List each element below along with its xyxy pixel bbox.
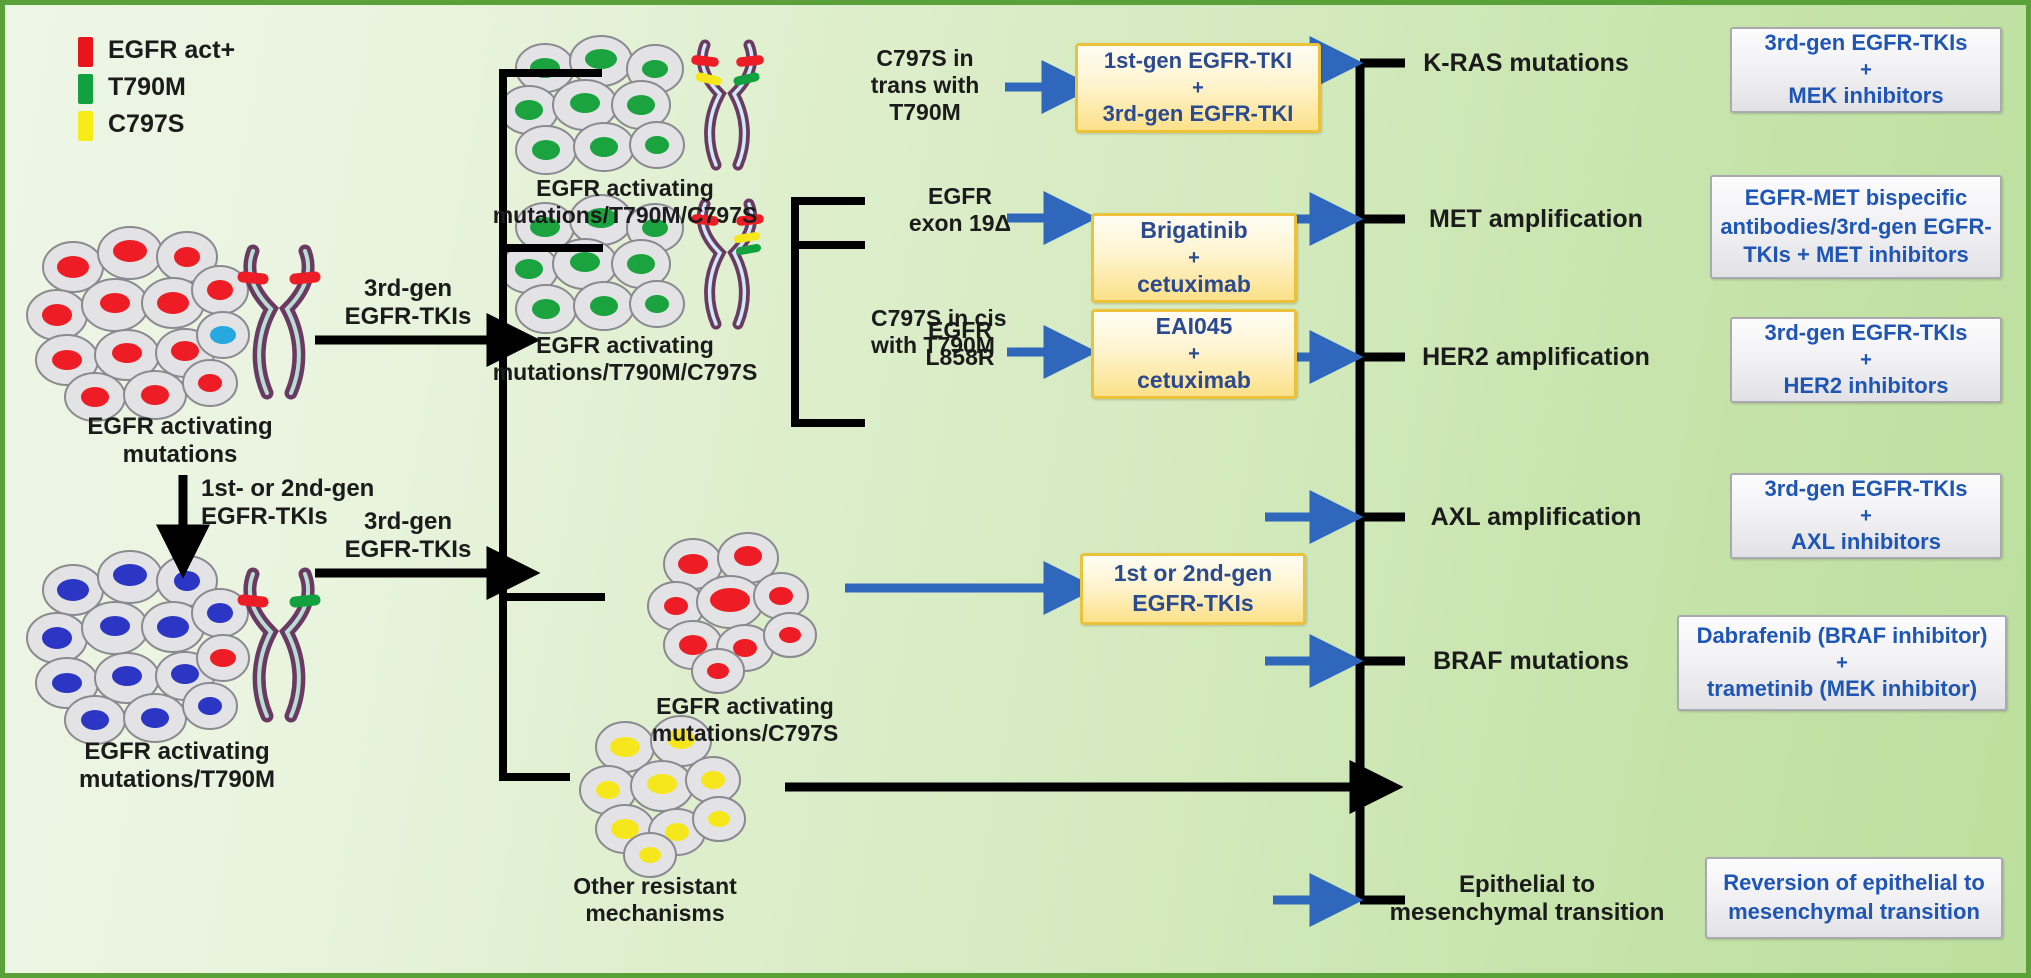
treatment-box-brigatinib[interactable]: Brigatinib + cetuximab (1091, 213, 1297, 303)
treatment-box-brigatinib-plus: + (1188, 248, 1200, 268)
label-cis-line2: mutations/T790M/C797S (460, 359, 790, 386)
mechanism-label-emt: Epithelial to mesenchymal transition (1387, 871, 1667, 928)
mechanism-label-met-line1: MET amplification (1411, 205, 1661, 235)
treatment-box-k-ras-line3: MEK inhibitors (1788, 82, 1943, 111)
label-egfr-t790m: EGFR activating mutations/T790M (27, 738, 327, 795)
treatment-box-her2-line1: 3rd-gen EGFR-TKIs (1765, 319, 1968, 348)
treatment-box-her2[interactable]: 3rd-gen EGFR-TKIs + HER2 inhibitors (1730, 317, 2002, 403)
branch-label-l858r: EGFR L858R (885, 317, 1035, 371)
cell-cluster-egfr-activating (27, 227, 249, 421)
treatment-box-her2-line3: HER2 inhibitors (1783, 372, 1948, 401)
label-trans-line1: EGFR activating (460, 175, 790, 202)
legend-swatch-egfr-act (78, 37, 93, 67)
treatment-box-her2-plus: + (1860, 350, 1872, 370)
branch-label-exon19-line1: EGFR (885, 183, 1035, 210)
treatment-box-1st-2nd-gen-line2: EGFR-TKIs (1132, 589, 1253, 619)
treatment-box-met-line3: TKIs + MET inhibitors (1743, 241, 1969, 270)
cell-cluster-t790m-c797s-trans (500, 36, 684, 174)
label-egfr-activating: EGFR activating mutations (45, 413, 315, 470)
treatment-box-k-ras-plus: + (1860, 60, 1872, 80)
chromosome-egfr-activating (243, 251, 315, 393)
legend-swatch-t790m (78, 74, 93, 104)
branch-label-trans-line2: trans with (845, 72, 1005, 99)
arrow-label-third-gen-top-line2: EGFR-TKIs (313, 303, 503, 331)
treatment-box-k-ras[interactable]: 3rd-gen EGFR-TKIs + MEK inhibitors (1730, 27, 2002, 113)
label-c797s-only-line2: mutations/C797S (605, 720, 885, 747)
branch-label-l858r-line1: EGFR (885, 317, 1035, 344)
treatment-box-eai045[interactable]: EAI045 + cetuximab (1091, 309, 1297, 399)
mechanism-label-axl: AXL amplification (1411, 503, 1661, 533)
treatment-box-axl-plus: + (1860, 506, 1872, 526)
branch-label-trans: C797S in trans with T790M (845, 45, 1005, 126)
label-other-resistant-line2: mechanisms (535, 900, 775, 927)
treatment-box-eai045-line3: cetuximab (1137, 366, 1251, 396)
branch-label-exon19-line2: exon 19Δ (885, 210, 1035, 237)
chromosome-egfr-t790m (243, 574, 315, 716)
branch-label-trans-line1: C797S in (845, 45, 1005, 72)
branch-label-l858r-line2: L858R (885, 344, 1035, 371)
treatment-box-met-line1: EGFR-MET bispecific (1745, 184, 1967, 213)
chromosome-trans (696, 45, 759, 165)
mechanism-label-braf-line1: BRAF mutations (1411, 647, 1651, 677)
treatment-box-brigatinib-line3: cetuximab (1137, 270, 1251, 300)
arrow-label-first-second-gen-line1: 1st- or 2nd-gen (201, 475, 431, 503)
treatment-box-brigatinib-line1: Brigatinib (1140, 216, 1247, 246)
arrow-label-third-gen-bottom: 3rd-gen EGFR-TKIs (313, 508, 503, 565)
treatment-box-axl[interactable]: 3rd-gen EGFR-TKIs + AXL inhibitors (1730, 473, 2002, 559)
treatment-box-axl-line1: 3rd-gen EGFR-TKIs (1765, 475, 1968, 504)
arrow-label-third-gen-top: 3rd-gen EGFR-TKIs (313, 275, 503, 332)
mechanism-label-emt-line2: mesenchymal transition (1387, 899, 1667, 927)
legend-label-egfr-act: EGFR act+ (108, 36, 235, 65)
treatment-box-1st-3rd-gen-plus: + (1192, 78, 1204, 98)
cell-cluster-c797s-only (648, 533, 816, 693)
mechanism-label-braf: BRAF mutations (1411, 647, 1651, 677)
treatment-box-1st-3rd-gen-line3: 3rd-gen EGFR-TKI (1103, 100, 1294, 129)
branch-label-trans-line3: T790M (845, 99, 1005, 126)
mechanism-label-axl-line1: AXL amplification (1411, 503, 1661, 533)
mechanism-label-k-ras-line1: K-RAS mutations (1411, 49, 1641, 79)
legend-swatch-c797s (78, 111, 93, 141)
label-t790m-c797s-cis: EGFR activating mutations/T790M/C797S (460, 332, 790, 386)
treatment-box-emt-line2: mesenchymal transition (1728, 898, 1980, 927)
label-other-resistant-line1: Other resistant (535, 873, 775, 900)
treatment-box-met[interactable]: EGFR-MET bispecific antibodies/3rd-gen E… (1710, 175, 2002, 279)
mechanism-label-her2-line1: HER2 amplification (1411, 343, 1661, 373)
branch-label-exon19: EGFR exon 19Δ (885, 183, 1035, 237)
treatment-box-k-ras-line1: 3rd-gen EGFR-TKIs (1765, 29, 1968, 58)
treatment-box-axl-line3: AXL inhibitors (1791, 528, 1941, 557)
label-other-resistant: Other resistant mechanisms (535, 873, 775, 927)
treatment-box-1st-3rd-gen-line1: 1st-gen EGFR-TKI (1104, 47, 1292, 76)
treatment-box-braf-line3: trametinib (MEK inhibitor) (1707, 675, 1977, 704)
mechanism-label-emt-line1: Epithelial to (1387, 871, 1667, 899)
treatment-box-met-line2: antibodies/3rd-gen EGFR- (1720, 213, 1991, 242)
label-egfr-activating-line2: mutations (45, 441, 315, 469)
mechanism-label-k-ras: K-RAS mutations (1411, 49, 1641, 79)
legend-label-c797s: C797S (108, 110, 184, 139)
treatment-box-1st-2nd-gen[interactable]: 1st or 2nd-gen EGFR-TKIs (1080, 553, 1306, 625)
diagram-canvas: EGFR act+ T790M C797S (0, 0, 2031, 978)
label-egfr-activating-line1: EGFR activating (45, 413, 315, 441)
cell-cluster-egfr-t790m (27, 551, 249, 744)
arrow-label-third-gen-top-line1: 3rd-gen (313, 275, 503, 303)
treatment-box-braf[interactable]: Dabrafenib (BRAF inhibitor) + trametinib… (1677, 615, 2007, 711)
label-egfr-t790m-line2: mutations/T790M (27, 766, 327, 794)
treatment-box-1st-3rd-gen[interactable]: 1st-gen EGFR-TKI + 3rd-gen EGFR-TKI (1075, 43, 1321, 133)
label-c797s-only-line1: EGFR activating (605, 693, 885, 720)
treatment-box-braf-plus: + (1836, 653, 1848, 673)
arrow-label-third-gen-bottom-line1: 3rd-gen (313, 508, 503, 536)
treatment-box-eai045-plus: + (1188, 344, 1200, 364)
treatment-box-emt[interactable]: Reversion of epithelial to mesenchymal t… (1705, 857, 2003, 939)
arrow-label-third-gen-bottom-line2: EGFR-TKIs (313, 536, 503, 564)
label-t790m-c797s-trans: EGFR activating mutations/T790M/C797S (460, 175, 790, 229)
mechanism-label-her2: HER2 amplification (1411, 343, 1661, 373)
label-trans-line2: mutations/T790M/C797S (460, 202, 790, 229)
mechanism-label-met: MET amplification (1411, 205, 1661, 235)
label-egfr-t790m-line1: EGFR activating (27, 738, 327, 766)
treatment-box-braf-line1: Dabrafenib (BRAF inhibitor) (1697, 622, 1988, 651)
treatment-box-emt-line1: Reversion of epithelial to (1723, 869, 1985, 898)
label-c797s-only: EGFR activating mutations/C797S (605, 693, 885, 747)
legend-label-t790m: T790M (108, 73, 186, 102)
label-cis-line1: EGFR activating (460, 332, 790, 359)
treatment-box-1st-2nd-gen-line1: 1st or 2nd-gen (1114, 559, 1272, 589)
treatment-box-eai045-line1: EAI045 (1156, 312, 1233, 342)
